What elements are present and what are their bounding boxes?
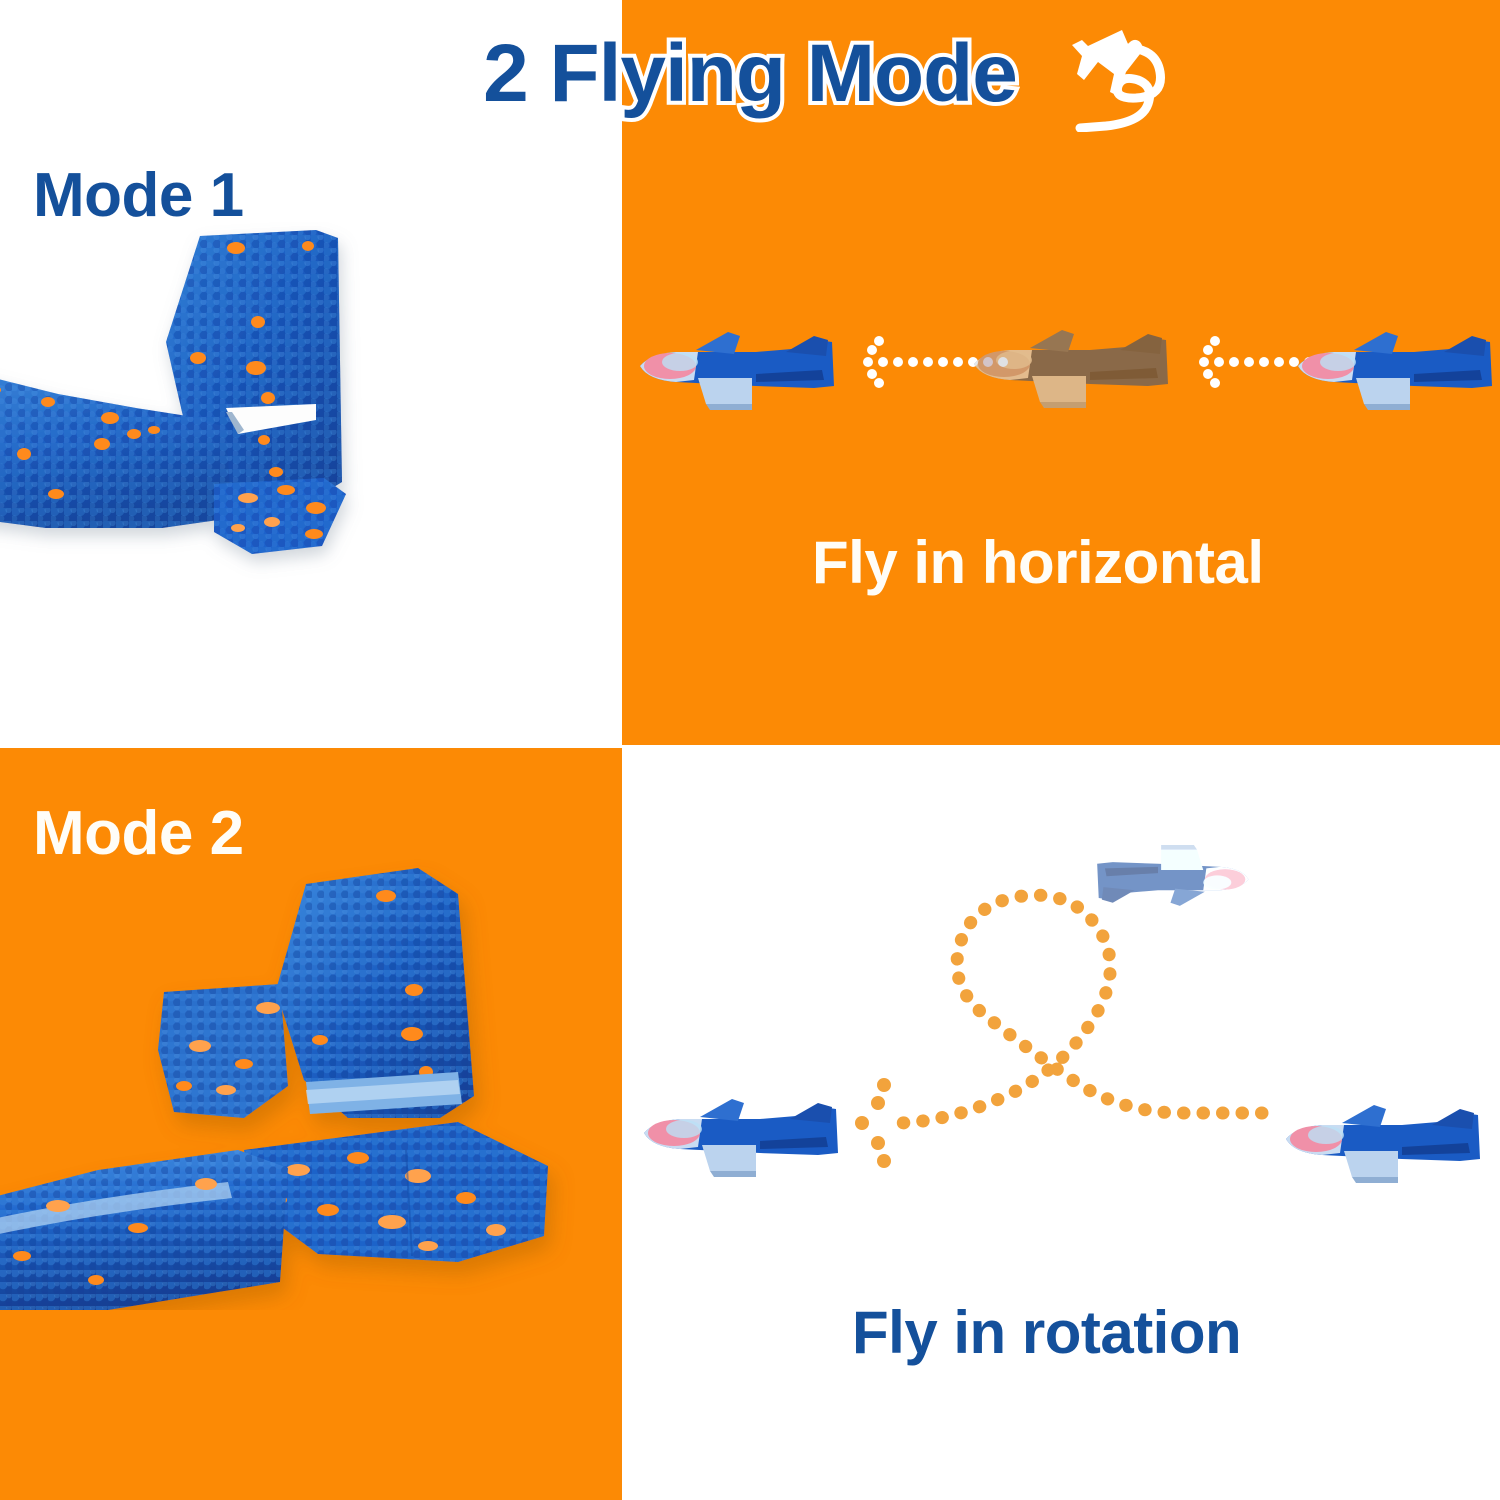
- plane-horizontal-2: [974, 330, 1168, 408]
- infographic-canvas: 2 Flying Mode Mode 1 Mode 2 Fly in horiz…: [0, 0, 1500, 1500]
- horizontal-flight-sequence: [622, 306, 1500, 426]
- plane-rotation-start: [644, 1099, 838, 1177]
- plane-rotation-inverted: [1097, 845, 1248, 906]
- mode-2-glider-photo: [0, 850, 598, 1310]
- rotation-flight-sequence: [622, 845, 1500, 1255]
- mode-2-label: Mode 2: [33, 798, 244, 869]
- rotation-arrowhead: [855, 1078, 891, 1168]
- rotation-trail-dots: [900, 895, 1262, 1123]
- plane-horizontal-3: [1298, 332, 1492, 410]
- airplane-loop-doodle-icon: [1052, 4, 1182, 132]
- fly-in-rotation-caption: Fly in rotation: [852, 1298, 1241, 1367]
- plane-rotation-end: [1286, 1105, 1480, 1183]
- mode-1-glider-photo: [0, 222, 546, 632]
- fly-in-horizontal-caption: Fly in horizontal: [812, 528, 1264, 597]
- plane-horizontal-1: [640, 332, 834, 410]
- mode-1-label: Mode 1: [33, 160, 244, 231]
